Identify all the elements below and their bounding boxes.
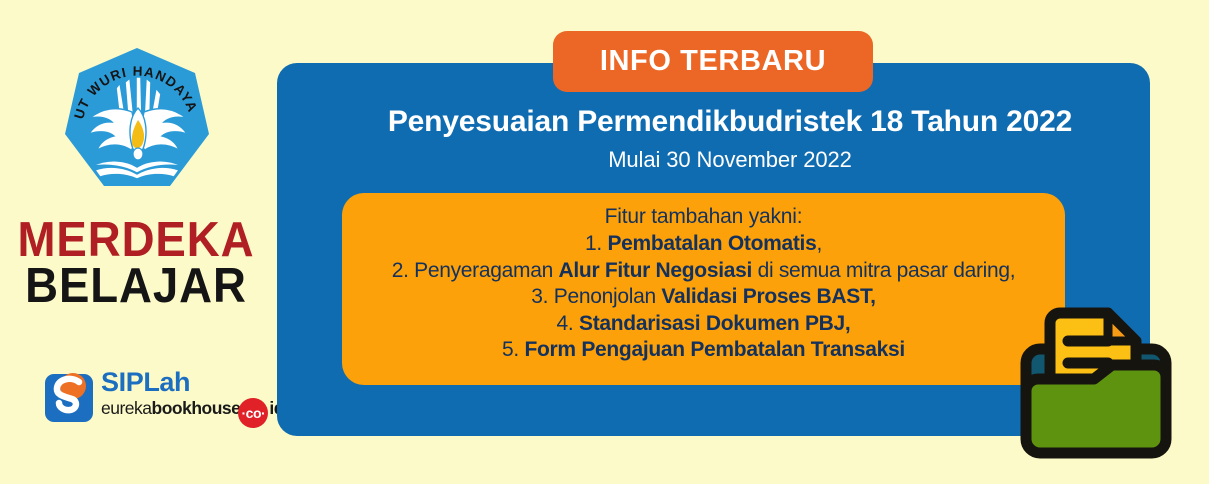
feature-highlight: Alur Fitur Negosiasi (559, 259, 753, 282)
wordmark-belajar: BELAJAR (10, 264, 263, 310)
merdeka-belajar-wordmark: MERDEKA BELAJAR (0, 218, 272, 309)
info-terbaru-badge: INFO TERBARU (553, 31, 873, 92)
feature-prefix: Penyeragaman (414, 259, 558, 282)
siplah-domain-badge: ·co· (238, 398, 268, 428)
feature-highlight: Form Pengajuan Pembatalan Transaksi (524, 338, 904, 361)
feature-item: 2. Penyeragaman Alur Fitur Negosiasi di … (342, 258, 1065, 285)
siplah-domain: eurekabookhouse·co·id (101, 395, 261, 425)
feature-number: 5. (502, 338, 524, 361)
feature-number: 1. (585, 232, 607, 255)
siplah-swirl-icon (45, 370, 97, 422)
feature-number: 3. (531, 285, 553, 308)
siplah-domain-bold: bookhouse (152, 398, 241, 418)
feature-highlight: Pembatalan Otomatis (607, 232, 816, 255)
announcement-subheadline: Mulai 30 November 2022 (300, 147, 1160, 173)
feature-number: 4. (557, 312, 579, 335)
feature-highlight: Validasi Proses BAST, (661, 285, 875, 308)
announcement-headline: Penyesuaian Permendikbudristek 18 Tahun … (300, 105, 1160, 139)
features-list: 1. Pembatalan Otomatis,2. Penyeragaman A… (342, 231, 1065, 364)
feature-item: 4. Standarisasi Dokumen PBJ, (342, 311, 1065, 338)
feature-prefix: Penonjolan (554, 285, 662, 308)
siplah-wordmark: SIPLah eurekabookhouse·co·id (101, 368, 261, 425)
feature-number: 2. (392, 259, 414, 282)
promo-banner: TUT WURI HANDAYANI (0, 0, 1209, 484)
siplah-domain-light: eureka (101, 398, 152, 418)
brand-column: TUT WURI HANDAYANI (0, 0, 272, 484)
features-intro: Fitur tambahan yakni: (342, 203, 1065, 231)
feature-suffix: di semua mitra pasar daring, (752, 259, 1015, 282)
feature-item: 5. Form Pengajuan Pembatalan Transaksi (342, 337, 1065, 364)
siplah-logo[interactable]: SIPLah eurekabookhouse·co·id (45, 368, 260, 424)
siplah-name: SIPLah (101, 368, 261, 396)
wordmark-merdeka: MERDEKA (10, 218, 263, 264)
feature-highlight: Standarisasi Dokumen PBJ, (579, 312, 850, 335)
features-card: Fitur tambahan yakni: 1. Pembatalan Otom… (342, 193, 1065, 385)
document-folder-illustration (1012, 303, 1180, 463)
tut-wuri-handayani-logo-icon: TUT WURI HANDAYANI (62, 46, 212, 201)
feature-item: 3. Penonjolan Validasi Proses BAST, (342, 284, 1065, 311)
feature-item: 1. Pembatalan Otomatis, (342, 231, 1065, 258)
feature-suffix: , (816, 232, 822, 255)
